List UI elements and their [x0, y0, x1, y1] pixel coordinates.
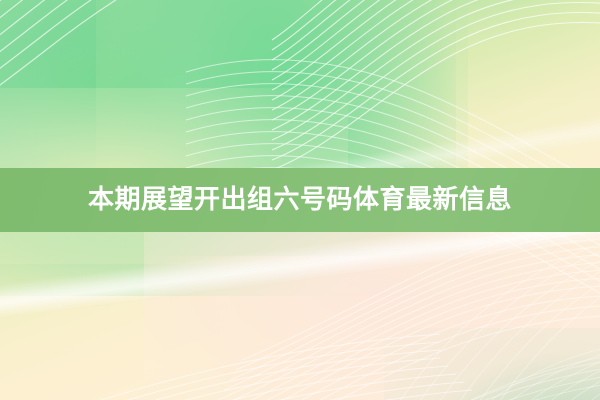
banner-title: 本期展望开出组六号码体育最新信息 — [88, 187, 512, 213]
title-band: 本期展望开出组六号码体育最新信息 — [0, 168, 600, 232]
decorative-banner: 本期展望开出组六号码体育最新信息 — [0, 0, 600, 400]
